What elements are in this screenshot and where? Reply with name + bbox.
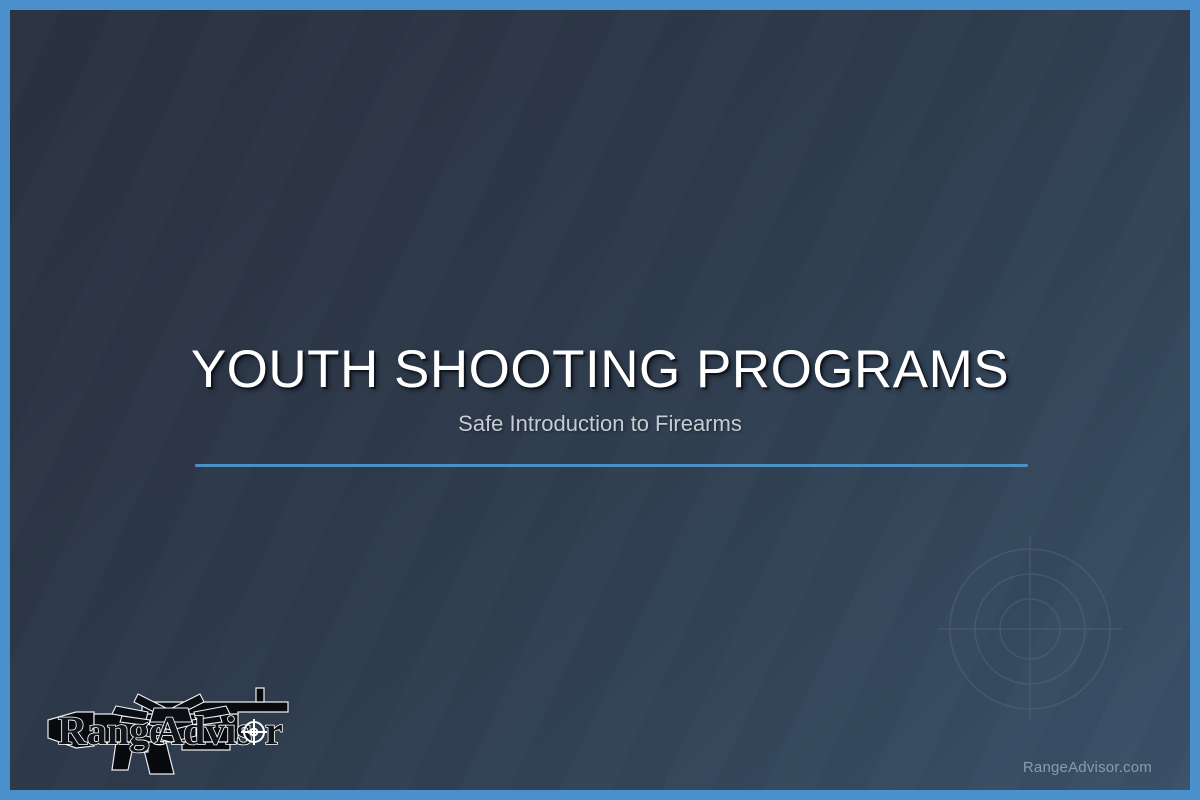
target-crosshair-icon: [930, 529, 1130, 729]
logo-word-dvis: dvis: [183, 708, 252, 753]
page-subtitle: Safe Introduction to Firearms: [10, 411, 1190, 437]
slide-canvas: YOUTH SHOOTING PROGRAMS Safe Introductio…: [10, 10, 1190, 790]
logo-word-range: Range: [58, 708, 167, 753]
footer-url: RangeAdvisor.com: [1023, 759, 1152, 776]
page-title: YOUTH SHOOTING PROGRAMS: [10, 342, 1190, 397]
brand-logo: Range A dvis r: [42, 678, 310, 782]
accent-divider: [195, 464, 1028, 467]
slide-frame: YOUTH SHOOTING PROGRAMS Safe Introductio…: [0, 0, 1200, 800]
logo-word-r: r: [265, 708, 283, 753]
title-block: YOUTH SHOOTING PROGRAMS Safe Introductio…: [10, 342, 1190, 437]
logo-word-a: A: [155, 708, 184, 753]
